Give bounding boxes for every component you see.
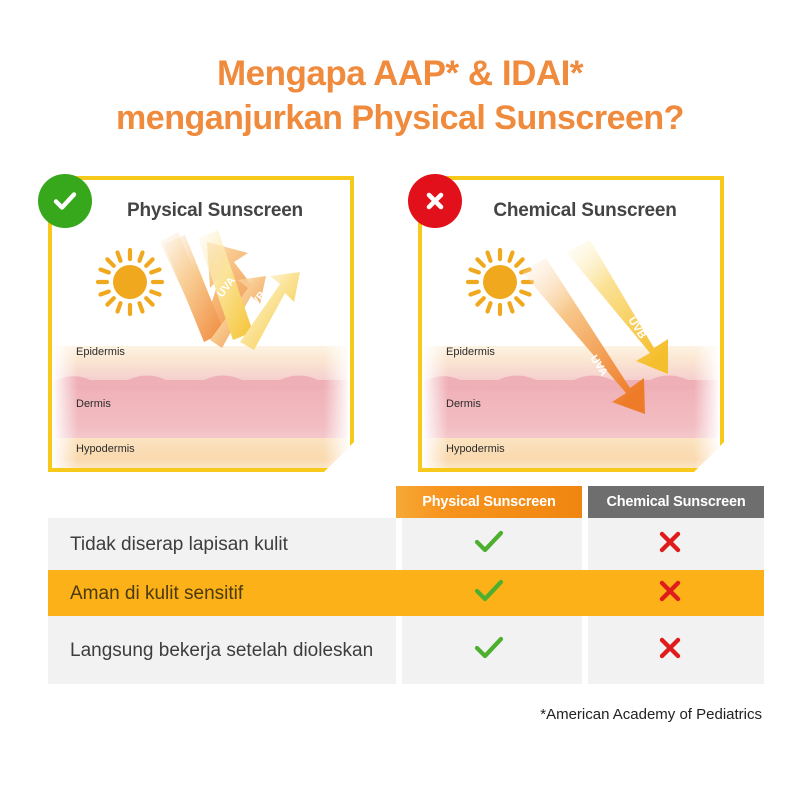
- column-gap: [396, 518, 402, 570]
- cell-physical: [396, 579, 582, 608]
- table-row: Aman di kulit sensitif: [48, 570, 764, 616]
- card-physical-sunscreen: Physical Sunscreen: [48, 176, 354, 472]
- uv-rays-reflected: UVA UVB: [52, 180, 350, 468]
- row-label: Aman di kulit sensitif: [48, 581, 396, 606]
- table-row: Tidak diserap lapisan kulit: [48, 518, 764, 570]
- column-gap: [396, 616, 402, 684]
- column-gap: [582, 518, 588, 570]
- table-row: Langsung bekerja setelah dioleskan: [48, 616, 764, 684]
- column-gap: [396, 570, 402, 616]
- card-physical-inner: Physical Sunscreen: [52, 180, 350, 468]
- row-label: Tidak diserap lapisan kulit: [48, 532, 396, 557]
- label-hypodermis: Hypodermis: [76, 443, 135, 455]
- column-header-physical: Physical Sunscreen: [396, 486, 582, 518]
- check-icon: [474, 636, 504, 660]
- badge-cross: [408, 174, 462, 228]
- left-fade: [52, 330, 78, 468]
- check-icon: [474, 530, 504, 554]
- cell-chemical: [582, 579, 758, 608]
- cell-chemical: [582, 530, 758, 559]
- cross-icon: [658, 636, 682, 660]
- column-gap: [582, 570, 588, 616]
- row-label: Langsung bekerja setelah dioleskan: [48, 638, 396, 663]
- right-fade: [324, 330, 350, 468]
- title-line-2: menganjurkan Physical Sunscreen?: [0, 96, 800, 140]
- table-header-row: Physical Sunscreen Chemical Sunscreen: [48, 486, 764, 518]
- cross-icon: [658, 530, 682, 554]
- check-icon: [474, 579, 504, 603]
- cell-physical: [396, 530, 582, 559]
- title-line-1: Mengapa AAP* & IDAI*: [217, 54, 583, 93]
- cross-icon: [658, 579, 682, 603]
- column-header-chemical: Chemical Sunscreen: [588, 486, 764, 518]
- card-chemical-inner: Chemical Sunscreen: [422, 180, 720, 468]
- label-dermis: Dermis: [76, 398, 111, 410]
- label-epidermis: Epidermis: [76, 346, 125, 358]
- footnote: *American Academy of Pediatrics: [540, 706, 762, 723]
- cell-physical: [396, 636, 582, 665]
- column-gap: [582, 616, 588, 684]
- comparison-table: Physical Sunscreen Chemical Sunscreen Ti…: [48, 486, 764, 684]
- close-icon: [420, 186, 450, 216]
- page-title: Mengapa AAP* & IDAI* menganjurkan Physic…: [0, 52, 800, 140]
- uv-rays-penetrating: UVA UVB: [422, 180, 720, 468]
- card-chemical-sunscreen: Chemical Sunscreen: [418, 176, 724, 472]
- cell-chemical: [582, 636, 758, 665]
- badge-check: [38, 174, 92, 228]
- check-icon: [50, 186, 80, 216]
